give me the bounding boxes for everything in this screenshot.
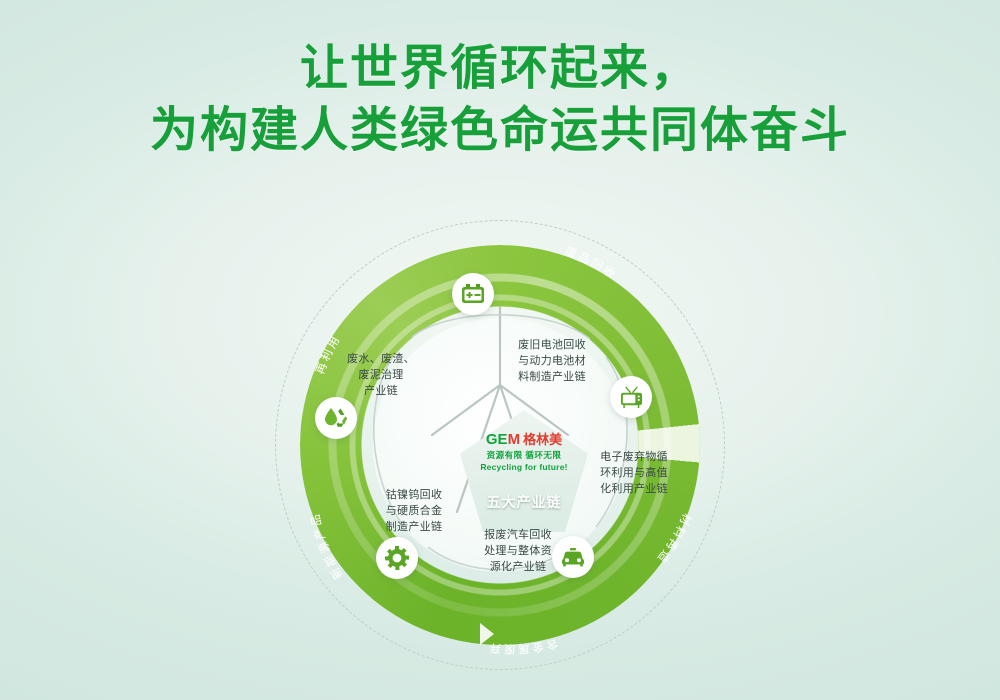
headline-line-1: 让世界循环起来， [0, 38, 1000, 100]
headline-line-2: 为构建人类绿色命运共同体奋斗 [0, 100, 1000, 162]
ring-arrow-bottom [480, 623, 494, 645]
poster-canvas: 让世界循环起来， 为构建人类绿色命运共同体奋斗 废品回收 材料再造 [0, 0, 1000, 700]
page-title: 让世界循环起来， 为构建人类绿色命运共同体奋斗 [0, 38, 1000, 163]
industry-chain-diagram: 废品回收 材料再造 含金属废弃 新能源产品 再利用 [280, 210, 720, 670]
ring-arrow-group [280, 210, 720, 670]
